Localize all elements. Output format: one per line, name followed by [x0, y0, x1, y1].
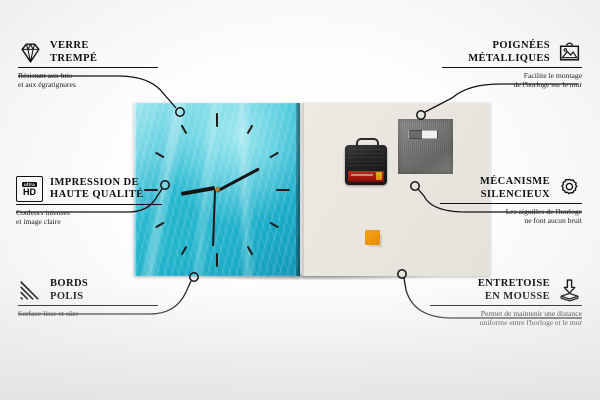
infographic-canvas: VERRE TREMPÉ Résistant aux bris et aux é…: [0, 0, 600, 400]
callout-impression-hd: ultra HD IMPRESSION DE HAUTE QUALITÉ Cou…: [16, 176, 162, 227]
callout-header: ENTRETOISE EN MOUSSE: [430, 278, 582, 303]
callout-title-line2: MÉTALLIQUES: [442, 53, 550, 66]
battery: [348, 171, 384, 182]
glass-right-edge: [296, 103, 300, 276]
clock-tick: [248, 129, 251, 134]
callout-title-line1: IMPRESSION DE: [50, 177, 144, 190]
callout-sub-line2: ne font aucun bruit: [440, 216, 582, 226]
callout-bords-polis: BORDS POLIS Surface lisse et sûre: [18, 278, 158, 318]
foam-spacer-icon: [557, 278, 582, 303]
callout-title-line2: SILENCIEUX: [440, 189, 550, 202]
callout-title-line1: BORDS: [50, 278, 88, 291]
callout-sub-line1: Permet de maintenir une distance: [430, 309, 582, 319]
clock-tick: [270, 155, 275, 158]
callout-rule: [18, 305, 158, 306]
callout-mecanisme-silencieux: MÉCANISME SILENCIEUX Les aiguilles de l'…: [440, 176, 582, 226]
callout-sub-line1: Facilite le montage: [442, 71, 582, 81]
foam-spacer: [365, 230, 380, 245]
picture-hanger-icon: [557, 40, 582, 65]
mechanism-vents: [348, 149, 384, 167]
callout-sub-line1: Couleurs intenses: [16, 208, 162, 218]
callout-header: ultra HD IMPRESSION DE HAUTE QUALITÉ: [16, 176, 162, 202]
clock-tick: [269, 222, 274, 225]
callout-verre-trempe: VERRE TREMPÉ Résistant aux bris et aux é…: [18, 40, 158, 90]
callout-sub-line2: et aux égratignures: [18, 80, 158, 90]
callout-title-line2: TREMPÉ: [50, 53, 97, 66]
metal-hanger-plate: [398, 119, 453, 174]
callout-header: VERRE TREMPÉ: [18, 40, 158, 65]
callout-rule: [16, 204, 162, 205]
ultra-hd-icon: ultra HD: [16, 176, 43, 202]
clock-tick: [276, 190, 283, 191]
callout-rule: [430, 305, 582, 306]
callout-title-line1: VERRE: [50, 40, 97, 53]
callout-sub-line1: Résistant aux bris: [18, 71, 158, 81]
callout-header: BORDS POLIS: [18, 278, 158, 303]
callout-title-line2: POLIS: [50, 291, 88, 304]
callout-title-line2: HAUTE QUALITÉ: [50, 189, 144, 202]
callout-header: POIGNÉES MÉTALLIQUES: [442, 40, 582, 65]
callout-sub-line2: de l'horloge sur le mur: [442, 80, 582, 90]
mechanism-hook: [356, 138, 379, 149]
clock-tick: [183, 245, 186, 250]
clock-tick: [216, 253, 217, 260]
clock-tick: [217, 120, 218, 127]
diamond-icon: [18, 40, 43, 65]
callout-title-line1: POIGNÉES: [442, 40, 550, 53]
clock-tick: [247, 246, 250, 251]
gear-icon: [557, 176, 582, 201]
clock-tick: [184, 128, 187, 133]
quartz-mechanism: [345, 145, 387, 185]
product-image: [134, 103, 490, 276]
callout-sub-line1: Surface lisse et sûre: [18, 309, 158, 319]
callout-rule: [442, 67, 582, 68]
hanger-slot: [408, 130, 438, 139]
callout-rule: [18, 67, 158, 68]
callout-poignees-metalliques: POIGNÉES MÉTALLIQUES Facilite le montage…: [442, 40, 582, 90]
ultra-hd-icon-bottom: HD: [23, 187, 36, 197]
callout-entretoise-en-mousse: ENTRETOISE EN MOUSSE Permet de maintenir…: [430, 278, 582, 328]
callout-sub-line1: Les aiguilles de l'horloge: [440, 207, 582, 217]
clock-tick: [160, 154, 165, 157]
panel-bevel: [302, 103, 304, 276]
callout-title-line1: MÉCANISME: [440, 176, 550, 189]
callout-sub-line2: uniforme entre l'horloge et le mur: [430, 318, 582, 328]
callout-rule: [440, 203, 582, 204]
polished-edge-icon: [18, 278, 43, 303]
callout-title-line1: ENTRETOISE: [430, 278, 550, 291]
callout-sub-line2: et image claire: [16, 217, 162, 227]
callout-title-line2: EN MOUSSE: [430, 291, 550, 304]
clock-center-hub: [215, 187, 220, 192]
callout-header: MÉCANISME SILENCIEUX: [440, 176, 582, 201]
